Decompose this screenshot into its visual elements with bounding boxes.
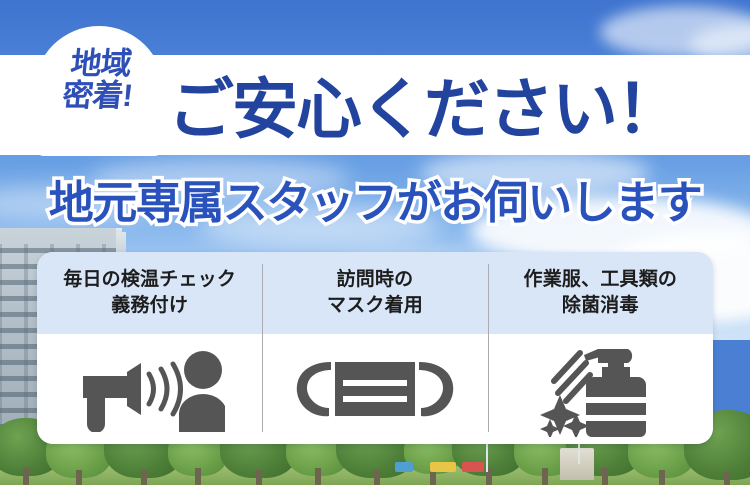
tree-trunk [195,468,201,485]
tree-trunk [76,470,82,485]
tree-trunk [602,468,608,485]
tree-trunk [659,470,665,485]
tree-trunk [141,470,147,485]
card-title: 作業服、工具類の 除菌消毒 [488,252,713,334]
playground-equipment [462,462,484,472]
card-icon-area [37,334,262,444]
locality-badge-label: 地域 密着! [31,48,168,111]
promotional-banner: 地域 密着! ご安心ください！ 地元専属スタッフがお伺いします 毎日の検温チェッ… [0,0,750,485]
thermometer-gun-person-icon [75,346,225,432]
feature-card: 訪問時の マスク着用 [262,252,487,444]
tree-trunk [374,470,380,485]
playground-equipment [395,462,413,472]
tree-trunk [724,472,730,485]
card-icon-area [262,334,487,444]
tree-trunk [315,468,321,485]
feature-card: 毎日の検温チェック 義務付け [37,252,262,444]
park-kiosk [560,448,594,480]
surgical-mask-icon [295,350,455,428]
card-title: 毎日の検温チェック 義務付け [37,252,262,334]
headline-primary: ご安心ください！ [168,52,728,156]
spray-bottle-sparkle-icon [536,341,664,437]
playground-equipment [430,462,456,472]
feature-card-panel: 毎日の検温チェック 義務付け 訪問時の マスク着用 [37,252,713,444]
tree-trunk [542,468,548,485]
feature-card: 作業服、工具類の 除菌消毒 [488,252,713,444]
card-title: 訪問時の マスク着用 [262,252,487,334]
tree-trunk [23,468,29,485]
tree-trunk [256,470,262,485]
card-icon-area [488,334,713,444]
headline-secondary: 地元専属スタッフがお伺いします [0,166,750,231]
